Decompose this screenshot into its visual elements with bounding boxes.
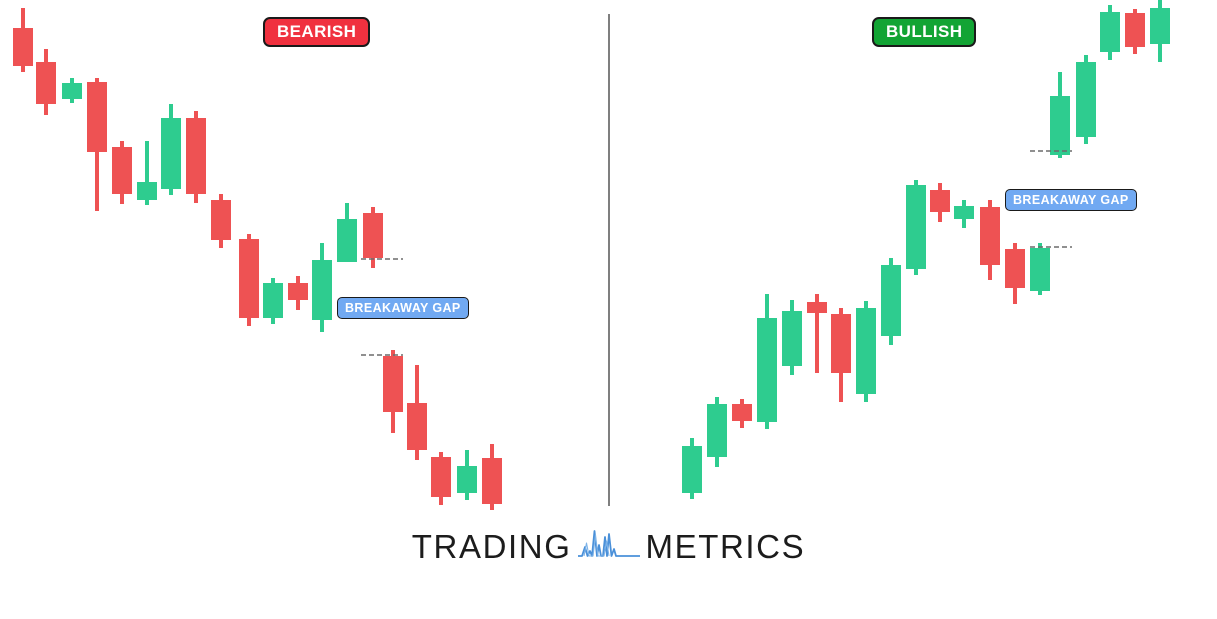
candle-body bbox=[980, 207, 1000, 265]
candlestick bbox=[431, 452, 451, 505]
candlestick bbox=[954, 200, 974, 228]
candlestick bbox=[1005, 243, 1025, 304]
candlestick bbox=[930, 183, 950, 222]
candle-body bbox=[137, 182, 157, 200]
status-badge-bullish: BULLISH bbox=[872, 17, 976, 47]
chart-panel-bullish bbox=[609, 0, 1217, 510]
candle-body bbox=[337, 219, 357, 262]
candle-body bbox=[782, 311, 802, 366]
candlestick bbox=[906, 180, 926, 275]
candle-body bbox=[407, 403, 427, 450]
candlestick bbox=[707, 397, 727, 467]
candle-body bbox=[1050, 96, 1070, 155]
annotation-breakaway-gap-bullish: BREAKAWAY GAP bbox=[1005, 189, 1137, 211]
candlestick bbox=[239, 234, 259, 326]
candle-body bbox=[1150, 8, 1170, 44]
candle-body bbox=[263, 283, 283, 318]
candlestick bbox=[87, 78, 107, 211]
candlestick bbox=[62, 78, 82, 103]
candlestick bbox=[407, 365, 427, 460]
logo-word-left: TRADING bbox=[412, 528, 572, 566]
candlestick bbox=[186, 111, 206, 203]
candle-body bbox=[13, 28, 33, 66]
candle-body bbox=[707, 404, 727, 457]
candle-body bbox=[906, 185, 926, 269]
waveform-pulse-icon bbox=[578, 525, 640, 569]
candlestick bbox=[831, 308, 851, 402]
candle-body bbox=[239, 239, 259, 318]
chart-panel-bearish bbox=[0, 0, 608, 510]
candle-body bbox=[186, 118, 206, 194]
candlestick bbox=[856, 301, 876, 402]
candlestick bbox=[1100, 5, 1120, 60]
annotation-breakaway-gap-bearish: BREAKAWAY GAP bbox=[337, 297, 469, 319]
candle-body bbox=[36, 62, 56, 104]
candle-body bbox=[1030, 248, 1050, 291]
candle-body bbox=[831, 314, 851, 373]
candle-body bbox=[62, 83, 82, 99]
candlestick bbox=[881, 258, 901, 345]
candle-body bbox=[482, 458, 502, 504]
candle-body bbox=[881, 265, 901, 336]
candlestick-chart-bullish bbox=[609, 0, 1217, 510]
candlestick-chart-bearish bbox=[0, 0, 608, 510]
candle-body bbox=[807, 302, 827, 313]
candlestick bbox=[36, 49, 56, 115]
candle-body bbox=[312, 260, 332, 320]
candle-body bbox=[1125, 13, 1145, 47]
candle-body bbox=[757, 318, 777, 422]
candlestick bbox=[112, 141, 132, 204]
candlestick bbox=[211, 194, 231, 248]
candle-body bbox=[363, 213, 383, 258]
candle-body bbox=[856, 308, 876, 394]
candle-body bbox=[930, 190, 950, 212]
candlestick bbox=[1050, 72, 1070, 158]
candlestick bbox=[161, 104, 181, 195]
candlestick bbox=[137, 141, 157, 205]
candle-body bbox=[288, 283, 308, 300]
breakaway-gap-illustration: BEARISH BULLISH BREAKAWAY GAP BREAKAWAY … bbox=[0, 0, 1217, 619]
logo-word-right: METRICS bbox=[646, 528, 806, 566]
candle-body bbox=[732, 404, 752, 421]
candlestick bbox=[980, 200, 1000, 280]
candle-body bbox=[87, 82, 107, 152]
candlestick bbox=[457, 450, 477, 500]
candlestick bbox=[13, 8, 33, 72]
candlestick bbox=[782, 300, 802, 375]
candle-body bbox=[383, 356, 403, 412]
brand-logo: TRADING bbox=[0, 512, 1217, 582]
status-badge-bearish: BEARISH bbox=[263, 17, 370, 47]
candle-body bbox=[1005, 249, 1025, 288]
candlestick bbox=[312, 243, 332, 332]
candlestick bbox=[1150, 0, 1170, 62]
candlestick bbox=[1125, 9, 1145, 54]
candle-body bbox=[211, 200, 231, 240]
candle-body bbox=[431, 457, 451, 497]
candle-body bbox=[682, 446, 702, 493]
candlestick bbox=[383, 350, 403, 433]
panel-divider bbox=[608, 14, 610, 506]
candle-body bbox=[112, 147, 132, 194]
candle-body bbox=[161, 118, 181, 189]
candlestick bbox=[1030, 243, 1050, 295]
candlestick bbox=[337, 203, 357, 262]
candle-body bbox=[457, 466, 477, 493]
candlestick bbox=[288, 276, 308, 310]
candlestick bbox=[682, 438, 702, 499]
candle-body bbox=[1100, 12, 1120, 52]
candlestick bbox=[757, 294, 777, 429]
candle-body bbox=[1076, 62, 1096, 137]
candle-body bbox=[954, 206, 974, 219]
candlestick bbox=[732, 399, 752, 428]
candlestick bbox=[482, 444, 502, 510]
candlestick bbox=[263, 278, 283, 324]
candlestick bbox=[1076, 55, 1096, 144]
candlestick bbox=[807, 294, 827, 373]
